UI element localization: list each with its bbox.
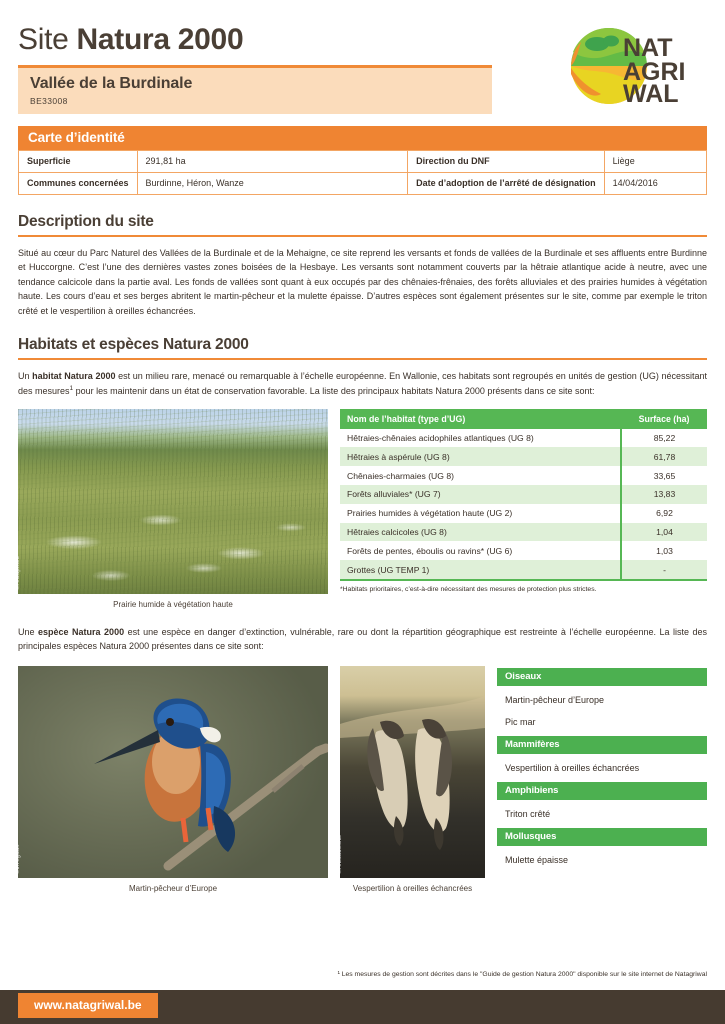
habitat-name: Forêts alluviales* (UG 7)	[340, 485, 621, 504]
natagriwal-logo: NAT AGRI WAL	[561, 22, 689, 108]
habitat-surface: 33,65	[621, 466, 707, 485]
photo-credit: ©A.Laudelout	[340, 835, 343, 874]
section-divider	[18, 235, 707, 237]
habitat-name: Grottes (UG TEMP 1)	[340, 560, 621, 580]
species-category-mammiferes: Mammifères	[497, 736, 707, 754]
bat-left	[367, 721, 407, 846]
habitats-table: Nom de l’habitat (type d’UG) Surface (ha…	[340, 409, 707, 581]
section-heading-habitats: Habitats et espèces Natura 2000	[18, 336, 707, 358]
species-content-row: ©J.Rigaux Martin-pêcheur d’Europe	[18, 666, 707, 893]
species-category-oiseaux: Oiseaux	[497, 668, 707, 686]
identity-card-table: Superficie 291,81 ha Direction du DNF Li…	[18, 150, 707, 195]
photo-credit: ©A.Sapinée	[18, 556, 21, 590]
table-header-row: Nom de l’habitat (type d’UG) Surface (ha…	[340, 409, 707, 429]
table-row: Superficie 291,81 ha Direction du DNF Li…	[19, 151, 707, 173]
photo-credit: ©J.Rigaux	[18, 844, 21, 874]
title-light: Site	[18, 23, 77, 56]
logo-wordmark: NAT AGRI WAL	[623, 34, 686, 108]
habitat-surface: 13,83	[621, 485, 707, 504]
habitats-intro-c: pour les maintenir dans un état de conse…	[73, 386, 594, 396]
label-date-adoption: Date d’adoption de l’arrêté de désignati…	[408, 172, 605, 194]
list-item: Mulette épaisse	[497, 852, 707, 874]
label-communes: Communes concernées	[19, 172, 138, 194]
habitats-table-body: Hêtraies-chênaies acidophiles atlantique…	[340, 429, 707, 580]
kingfisher-illustration	[18, 666, 328, 878]
list-item: Martin-pêcheur d’Europe	[497, 692, 707, 714]
table-row: Communes concernées Burdinne, Héron, Wan…	[19, 172, 707, 194]
habitat-name: Forêts de pentes, éboulis ou ravins* (UG…	[340, 541, 621, 560]
table-row: Hêtraies calcicoles (UG 8)1,04	[340, 523, 707, 542]
photo-caption: Vespertilion à oreilles échancrées	[340, 884, 485, 893]
table-row: Forêts alluviales* (UG 7)13,83	[340, 485, 707, 504]
habitat-surface: 61,78	[621, 447, 707, 466]
label-superficie: Superficie	[19, 151, 138, 173]
page-footnote: ¹ Les mesures de gestion sont décrites d…	[338, 971, 707, 978]
page-header: Site Natura 2000 Vallée de la Burdinale …	[18, 0, 707, 110]
table-row: Chênaies-charmaies (UG 8)33,65	[340, 466, 707, 485]
habitats-table-column: Nom de l’habitat (type d’UG) Surface (ha…	[340, 409, 707, 609]
habitat-name: Hêtraies à aspérule (UG 8)	[340, 447, 621, 466]
species-figure-bat: ©A.Laudelout Vespertilion à oreilles éch…	[340, 666, 485, 893]
species-category-mollusques: Mollusques	[497, 828, 707, 846]
table-row: Forêts de pentes, éboulis ou ravins* (UG…	[340, 541, 707, 560]
value-superficie: 291,81 ha	[137, 151, 408, 173]
list-item: Vespertilion à oreilles échancrées	[497, 760, 707, 782]
value-communes: Burdinne, Héron, Wanze	[137, 172, 408, 194]
col-header-surface: Surface (ha)	[621, 409, 707, 429]
section-divider	[18, 358, 707, 360]
habitat-name: Hêtraies-chênaies acidophiles atlantique…	[340, 429, 621, 448]
table-row: Grottes (UG TEMP 1)-	[340, 560, 707, 580]
habitats-intro-a: Un	[18, 371, 32, 381]
table-row: Hêtraies à aspérule (UG 8)61,78	[340, 447, 707, 466]
photo-martin-pecheur: ©J.Rigaux	[18, 666, 328, 878]
section-heading-description: Description du site	[18, 213, 707, 235]
photo-caption: Martin-pêcheur d’Europe	[18, 884, 328, 893]
habitat-surface: 1,04	[621, 523, 707, 542]
logo-text-wal: WAL	[623, 80, 679, 108]
photo-caption: Prairie humide à végétation haute	[18, 600, 328, 609]
footer-website-link[interactable]: www.natagriwal.be	[18, 993, 158, 1018]
species-figure-kingfisher: ©J.Rigaux Martin-pêcheur d’Europe	[18, 666, 328, 893]
habitats-intro-bold: habitat Natura 2000	[32, 371, 115, 381]
species-intro-bold: espèce Natura 2000	[38, 627, 124, 637]
habitat-name: Prairies humides à végétation haute (UG …	[340, 504, 621, 523]
habitat-name: Hêtraies calcicoles (UG 8)	[340, 523, 621, 542]
bats-illustration	[340, 666, 485, 878]
habitat-surface: -	[621, 560, 707, 580]
title-bold: Natura 2000	[77, 23, 244, 56]
table-row: Hêtraies-chênaies acidophiles atlantique…	[340, 429, 707, 448]
site-code: BE33008	[30, 96, 480, 106]
document-page: Site Natura 2000 Vallée de la Burdinale …	[0, 0, 725, 1024]
description-paragraph: Situé au cœur du Parc Naturel des Vallée…	[18, 246, 707, 319]
list-item: Pic mar	[497, 714, 707, 736]
species-intro: Une espèce Natura 2000 est une espèce en…	[18, 625, 707, 654]
photo-prairie-humide: ©A.Sapinée	[18, 409, 328, 594]
species-category-amphibiens: Amphibiens	[497, 782, 707, 800]
habitats-table-note: *Habitats prioritaires, c’est-à-dire néc…	[340, 586, 707, 595]
value-direction-dnf: Liège	[604, 151, 706, 173]
site-name: Vallée de la Burdinale	[30, 75, 480, 93]
table-row: Prairies humides à végétation haute (UG …	[340, 504, 707, 523]
habitat-surface: 85,22	[621, 429, 707, 448]
identity-card-title: Carte d’identité	[18, 126, 707, 150]
species-intro-a: Une	[18, 627, 38, 637]
site-name-band: Vallée de la Burdinale BE33008	[18, 65, 492, 114]
photo-vespertilion: ©A.Laudelout	[340, 666, 485, 878]
bat-right	[415, 719, 452, 850]
label-direction-dnf: Direction du DNF	[408, 151, 605, 173]
habitat-surface: 1,03	[621, 541, 707, 560]
species-list: Oiseaux Martin-pêcheur d’Europe Pic mar …	[497, 666, 707, 874]
habitats-intro: Un habitat Natura 2000 est un milieu rar…	[18, 369, 707, 398]
habitat-surface: 6,92	[621, 504, 707, 523]
habitat-name: Chênaies-charmaies (UG 8)	[340, 466, 621, 485]
habitat-figure: ©A.Sapinée Prairie humide à végétation h…	[18, 409, 328, 609]
value-date-adoption: 14/04/2016	[604, 172, 706, 194]
col-header-habitat-name: Nom de l’habitat (type d’UG)	[340, 409, 621, 429]
habitats-content-row: ©A.Sapinée Prairie humide à végétation h…	[18, 409, 707, 609]
list-item: Triton crêté	[497, 806, 707, 828]
